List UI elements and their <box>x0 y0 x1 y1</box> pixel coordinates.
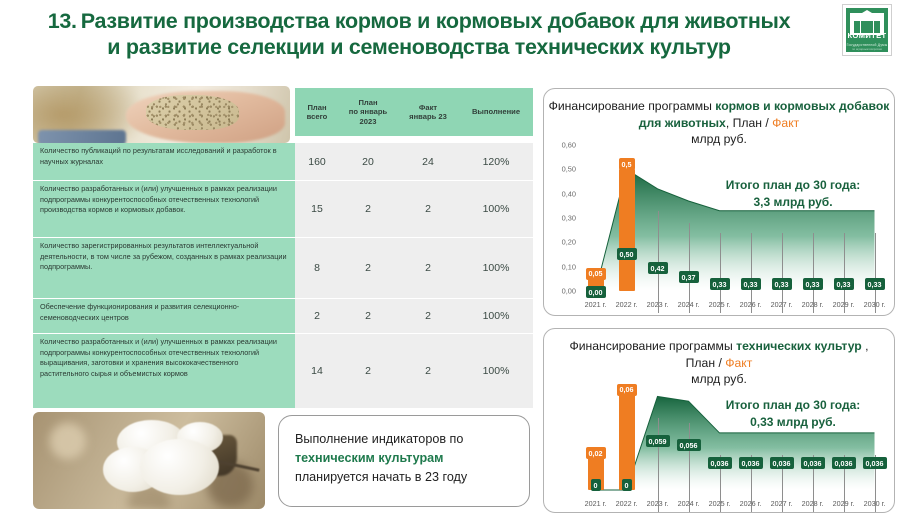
cell-fact-january: 2 <box>397 310 459 322</box>
x-axis-tick: 2026 г. <box>740 499 762 508</box>
indicators-table: Планвсего Планпо январь2023 Фактянварь 2… <box>33 88 533 406</box>
fact-value-label: 0,33 <box>865 278 885 290</box>
chart-title-fact: Факт <box>772 116 799 130</box>
note-line-3: планируется начать в 23 году <box>295 468 513 487</box>
fact-value-label: 0,50 <box>617 248 637 260</box>
plan-bar-label: 0,5 <box>619 158 635 170</box>
x-axis-tick: 2024 г. <box>678 499 700 508</box>
table-header-plan-january: Планпо январь2023 <box>339 98 397 126</box>
fact-value-label: 0,33 <box>741 278 761 290</box>
x-axis-tick: 2026 г. <box>740 300 762 309</box>
x-axis-tick: 2021 г. <box>585 499 607 508</box>
logo-background: КОМИТЕТ Государственной Думы по аграрным… <box>846 8 888 52</box>
x-axis-tick: 2029 г. <box>833 300 855 309</box>
grid-line <box>658 418 659 512</box>
cell-plan-total: 14 <box>295 365 339 377</box>
fact-value-label: 0,036 <box>770 457 794 469</box>
slide-root: 13.Развитие производства кормов и кормов… <box>0 0 900 521</box>
cell-fact-january: 2 <box>397 203 459 215</box>
x-axis-tick: 2025 г. <box>709 499 731 508</box>
x-axis-tick: 2028 г. <box>802 300 824 309</box>
cell-execution: 100% <box>459 262 533 274</box>
fact-value-label: 0,059 <box>646 435 670 447</box>
fact-value-label: 0,036 <box>708 457 732 469</box>
plan-bar-label: 0,06 <box>617 384 637 396</box>
fact-value-label: 0,33 <box>772 278 792 290</box>
note-line-2: техническим культурам <box>295 449 513 468</box>
chart-title-fact: Факт <box>725 356 752 370</box>
cell-plan-total: 160 <box>295 156 339 168</box>
row-values: 15 2 2 100% <box>295 181 533 237</box>
cell-plan-january: 2 <box>339 310 397 322</box>
fact-value-label: 0,33 <box>710 278 730 290</box>
x-axis-tick: 2022 г. <box>616 300 638 309</box>
row-values: 160 20 24 120% <box>295 143 533 180</box>
row-values: 2 2 2 100% <box>295 299 533 333</box>
cell-plan-january: 2 <box>339 262 397 274</box>
x-axis-tick: 2027 г. <box>771 300 793 309</box>
fact-value-label: 0,42 <box>648 262 668 274</box>
feed-funding-chart-panel: Финансирование программы кормов и кормов… <box>543 88 895 316</box>
row-values: 8 2 2 100% <box>295 238 533 298</box>
table-body: Количество публикаций по результатам исс… <box>33 143 533 408</box>
row-label: Обеспечение функционирования и развития … <box>33 299 295 333</box>
technical-crops-note-card: Выполнение индикаторов по техническим ку… <box>278 415 530 507</box>
row-values: 14 2 2 100% <box>295 334 533 408</box>
fact-value-label: 0,37 <box>679 271 699 283</box>
table-row: Количество публикаций по результатам исс… <box>33 143 533 181</box>
technical-crops-chart-panel: Финансирование программы технических кул… <box>543 328 895 513</box>
cell-fact-january: 2 <box>397 262 459 274</box>
fact-value-label: 0,056 <box>677 439 701 451</box>
cell-plan-january: 2 <box>339 203 397 215</box>
plan-bar-label: 0,02 <box>586 447 606 459</box>
table-header-plan-total: Планвсего <box>295 103 339 122</box>
table-row: Количество разработанных и (или) улучшен… <box>33 181 533 238</box>
cell-execution: 100% <box>459 310 533 322</box>
chart-title-bold: технических культур <box>736 339 862 353</box>
title-text-1: Развитие производства кормов и кормовых … <box>81 9 791 33</box>
x-axis-tick: 2028 г. <box>802 499 824 508</box>
x-axis-tick: 2021 г. <box>585 300 607 309</box>
logo-subtitle: Государственной Думы <box>846 43 888 47</box>
table-header-fact-january: Фактянварь 23 <box>397 103 459 122</box>
chart-title-prefix: Финансирование программы <box>549 99 716 113</box>
chart-plot-feed: 0,000,100,200,300,400,500,600,050,50,000… <box>544 145 895 313</box>
logo-roof-icon <box>857 10 877 16</box>
fact-value-label: 0,33 <box>803 278 823 290</box>
title-number: 13. <box>48 9 77 33</box>
cell-plan-total: 2 <box>295 310 339 322</box>
table-row: Количество разработанных и (или) улучшен… <box>33 334 533 408</box>
fact-value-label: 0,036 <box>801 457 825 469</box>
chart-title-plan: План / <box>686 356 726 370</box>
table-header-row: Планвсего Планпо январь2023 Фактянварь 2… <box>295 88 533 136</box>
cell-fact-january: 24 <box>397 156 459 168</box>
table-row: Количество зарегистрированных результато… <box>33 238 533 299</box>
x-axis-tick: 2030 г. <box>864 499 886 508</box>
row-label: Количество разработанных и (или) улучшен… <box>33 334 295 408</box>
cell-execution: 100% <box>459 365 533 377</box>
x-axis-tick: 2025 г. <box>709 300 731 309</box>
page-title: 13.Развитие производства кормов и кормов… <box>0 8 838 60</box>
row-label: Количество зарегистрированных результато… <box>33 238 295 298</box>
x-axis-tick: 2029 г. <box>833 499 855 508</box>
cell-execution: 100% <box>459 203 533 215</box>
row-label: Количество публикаций по результатам исс… <box>33 143 295 180</box>
x-axis-tick: 2023 г. <box>647 499 669 508</box>
cotton-boll-photo <box>33 412 265 509</box>
fact-value-label: 0,036 <box>832 457 856 469</box>
x-axis-tick: 2023 г. <box>647 300 669 309</box>
chart-plot-crops: 0,020,06000,0590,0560,0360,0360,0360,036… <box>544 379 895 512</box>
logo-subtitle-2: по аграрным вопросам <box>846 48 888 51</box>
x-axis-tick: 2024 г. <box>678 300 700 309</box>
plan-bar <box>619 169 635 291</box>
x-axis-tick: 2027 г. <box>771 499 793 508</box>
fact-value-label: 0,036 <box>863 457 887 469</box>
table-row: Обеспечение функционирования и развития … <box>33 299 533 334</box>
chart-title-feed: Финансирование программы кормов и кормов… <box>544 89 894 131</box>
committee-logo: КОМИТЕТ Государственной Думы по аграрным… <box>842 4 892 56</box>
cell-fact-january: 2 <box>397 365 459 377</box>
plan-bar <box>619 395 635 490</box>
x-axis-tick: 2030 г. <box>864 300 886 309</box>
x-axis-tick: 2022 г. <box>616 499 638 508</box>
logo-word: КОМИТЕТ <box>846 31 888 40</box>
cell-plan-january: 20 <box>339 156 397 168</box>
table-header-execution: Выполнение <box>459 107 533 116</box>
fact-value-label: 0 <box>622 479 632 491</box>
fact-value-label: 0,00 <box>586 286 606 298</box>
chart-title-suffix: , <box>862 339 869 353</box>
cell-plan-total: 15 <box>295 203 339 215</box>
cell-plan-january: 2 <box>339 365 397 377</box>
chart-title-line2: План / Факт <box>544 355 894 372</box>
fact-value-label: 0,33 <box>834 278 854 290</box>
note-line-1: Выполнение индикаторов по <box>295 430 513 449</box>
fact-value-label: 0 <box>591 479 601 491</box>
chart-title-crops: Финансирование программы технических кул… <box>544 329 894 371</box>
cell-plan-total: 8 <box>295 262 339 274</box>
chart-title-prefix: Финансирование программы <box>569 339 736 353</box>
plan-bar-label: 0,05 <box>586 268 606 280</box>
cell-execution: 120% <box>459 156 533 168</box>
row-label: Количество разработанных и (или) улучшен… <box>33 181 295 237</box>
chart-title-suffix: , План / <box>726 116 772 130</box>
fact-value-label: 0,036 <box>739 457 763 469</box>
title-line-2: и развитие селекции и семеноводства техн… <box>0 34 838 60</box>
title-line-1: 13.Развитие производства кормов и кормов… <box>0 8 838 34</box>
